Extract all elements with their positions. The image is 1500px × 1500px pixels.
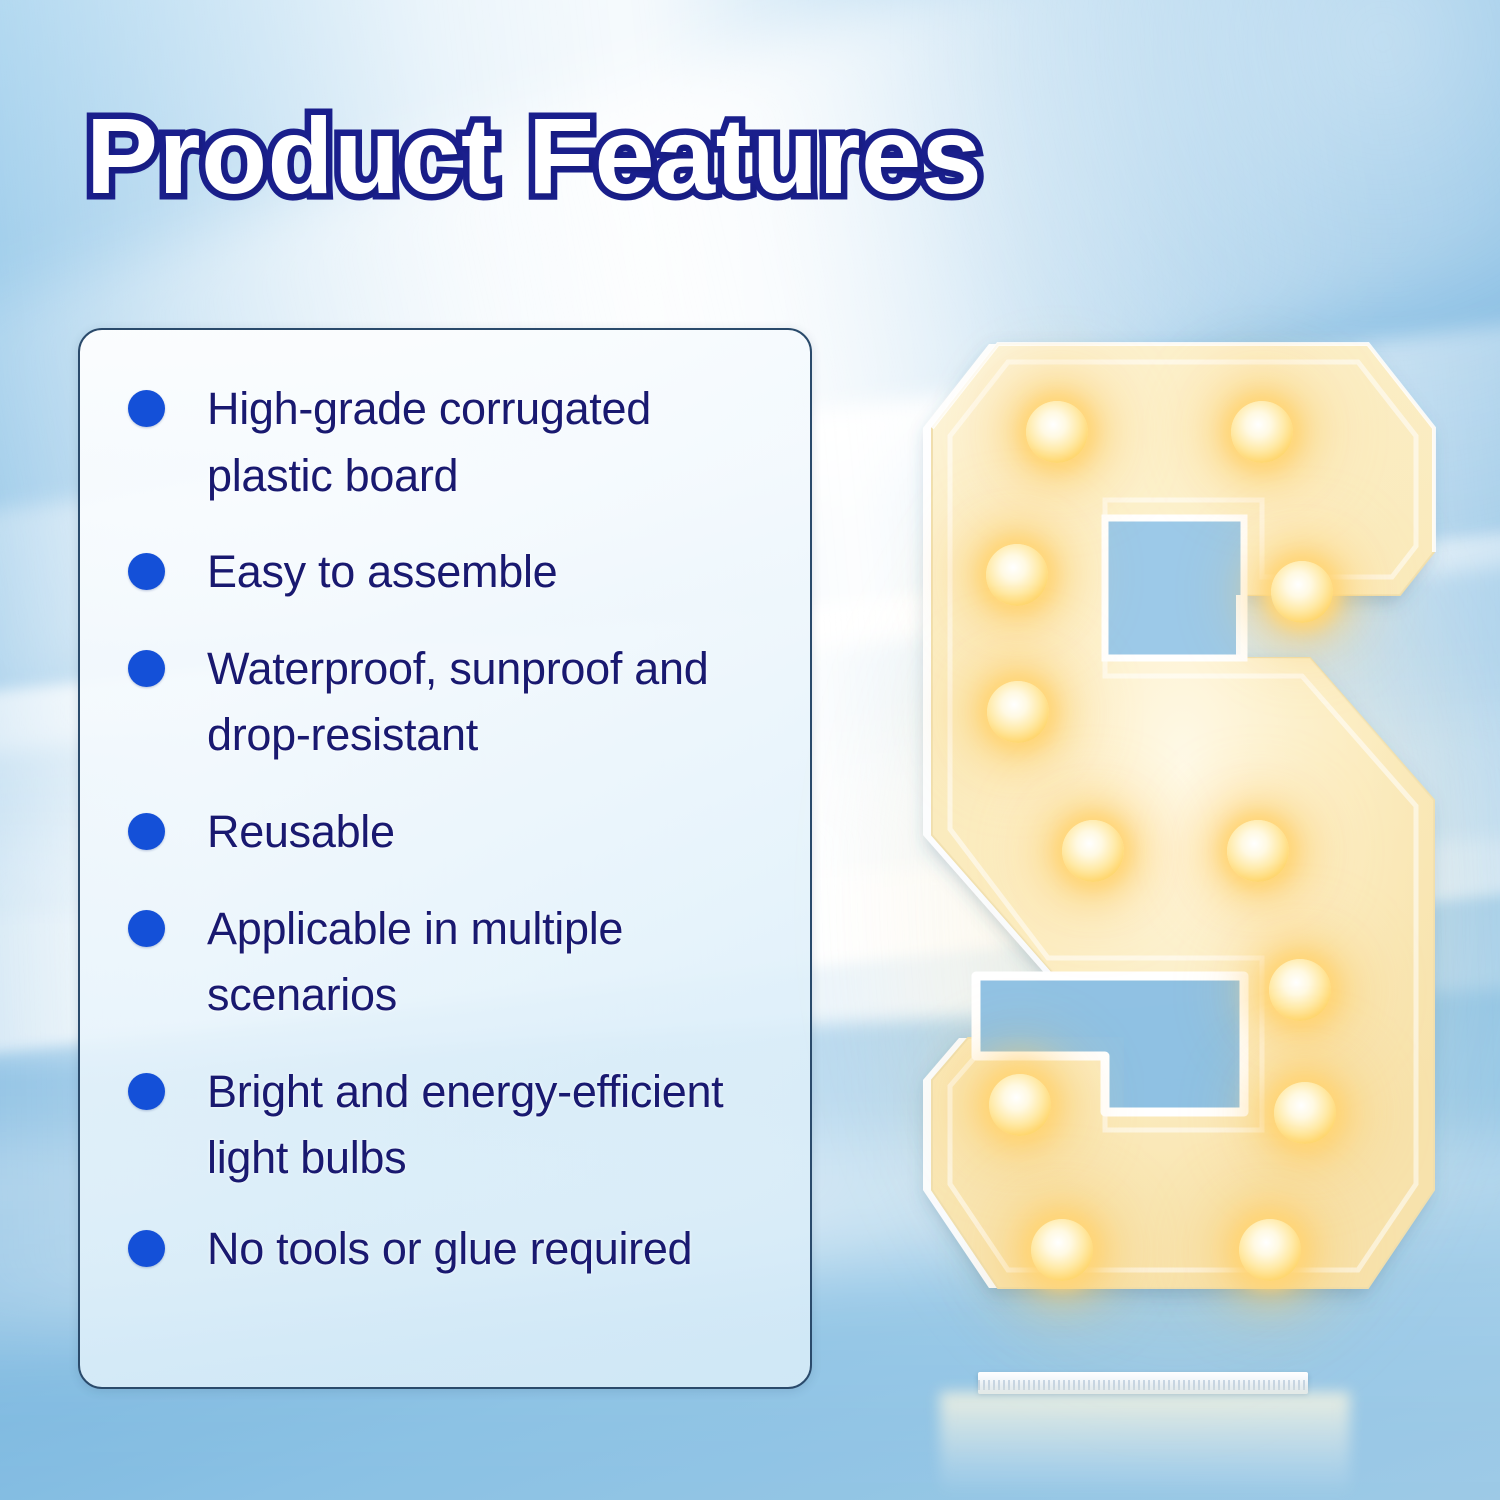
marquee-letter-product	[880, 300, 1460, 1420]
feature-list: High-grade corrugated plastic board Easy…	[80, 330, 810, 1283]
feature-label: Applicable in multiple scenarios	[207, 896, 747, 1029]
list-item: No tools or glue required	[128, 1216, 780, 1283]
led-bulb	[1271, 561, 1333, 623]
bullet-dot-icon	[128, 650, 165, 687]
bullet-dot-icon	[128, 390, 165, 427]
led-bulb	[1026, 401, 1088, 463]
led-bulb	[1227, 820, 1289, 882]
letter-support-strut	[1236, 595, 1243, 657]
led-bulb	[1274, 1082, 1336, 1144]
feature-label: High-grade corrugated plastic board	[207, 376, 747, 509]
list-item: Applicable in multiple scenarios	[128, 896, 780, 1029]
feature-label: Reusable	[207, 799, 395, 866]
product-feature-image: Product Features High-grade corrugated p…	[0, 0, 1500, 1500]
led-bulb	[1031, 1219, 1093, 1281]
list-item: Reusable	[128, 799, 780, 866]
led-bulb	[989, 1074, 1051, 1136]
features-panel: High-grade corrugated plastic board Easy…	[78, 328, 812, 1389]
letter-reflection	[940, 1392, 1350, 1497]
bullet-dot-icon	[128, 553, 165, 590]
feature-label: Easy to assemble	[207, 539, 557, 606]
marquee-letter-s-icon	[880, 300, 1460, 1420]
list-item: Waterproof, sunproof and drop-resistant	[128, 636, 780, 769]
bullet-dot-icon	[128, 813, 165, 850]
letter-base-stand	[978, 1372, 1308, 1394]
letter-upper-counter	[1105, 518, 1244, 658]
letter-inner-glow	[932, 344, 1434, 1288]
led-bulb	[1269, 959, 1331, 1021]
led-bulb	[1062, 820, 1124, 882]
base-corrugation-texture	[978, 1380, 1308, 1390]
bullet-dot-icon	[128, 1073, 165, 1110]
led-bulb	[986, 544, 1048, 606]
bullet-dot-icon	[128, 910, 165, 947]
led-bulb	[1239, 1219, 1301, 1281]
feature-label: No tools or glue required	[207, 1216, 692, 1283]
title-container: Product Features	[86, 96, 1236, 216]
page-title: Product Features	[86, 96, 1236, 216]
list-item: High-grade corrugated plastic board	[128, 376, 780, 509]
list-item: Bright and energy-efficient light bulbs	[128, 1059, 780, 1192]
led-bulb	[987, 681, 1049, 743]
bullet-dot-icon	[128, 1230, 165, 1267]
feature-label: Waterproof, sunproof and drop-resistant	[207, 636, 747, 769]
feature-label: Bright and energy-efficient light bulbs	[207, 1059, 747, 1192]
list-item: Easy to assemble	[128, 539, 780, 606]
led-bulb	[1231, 401, 1293, 463]
